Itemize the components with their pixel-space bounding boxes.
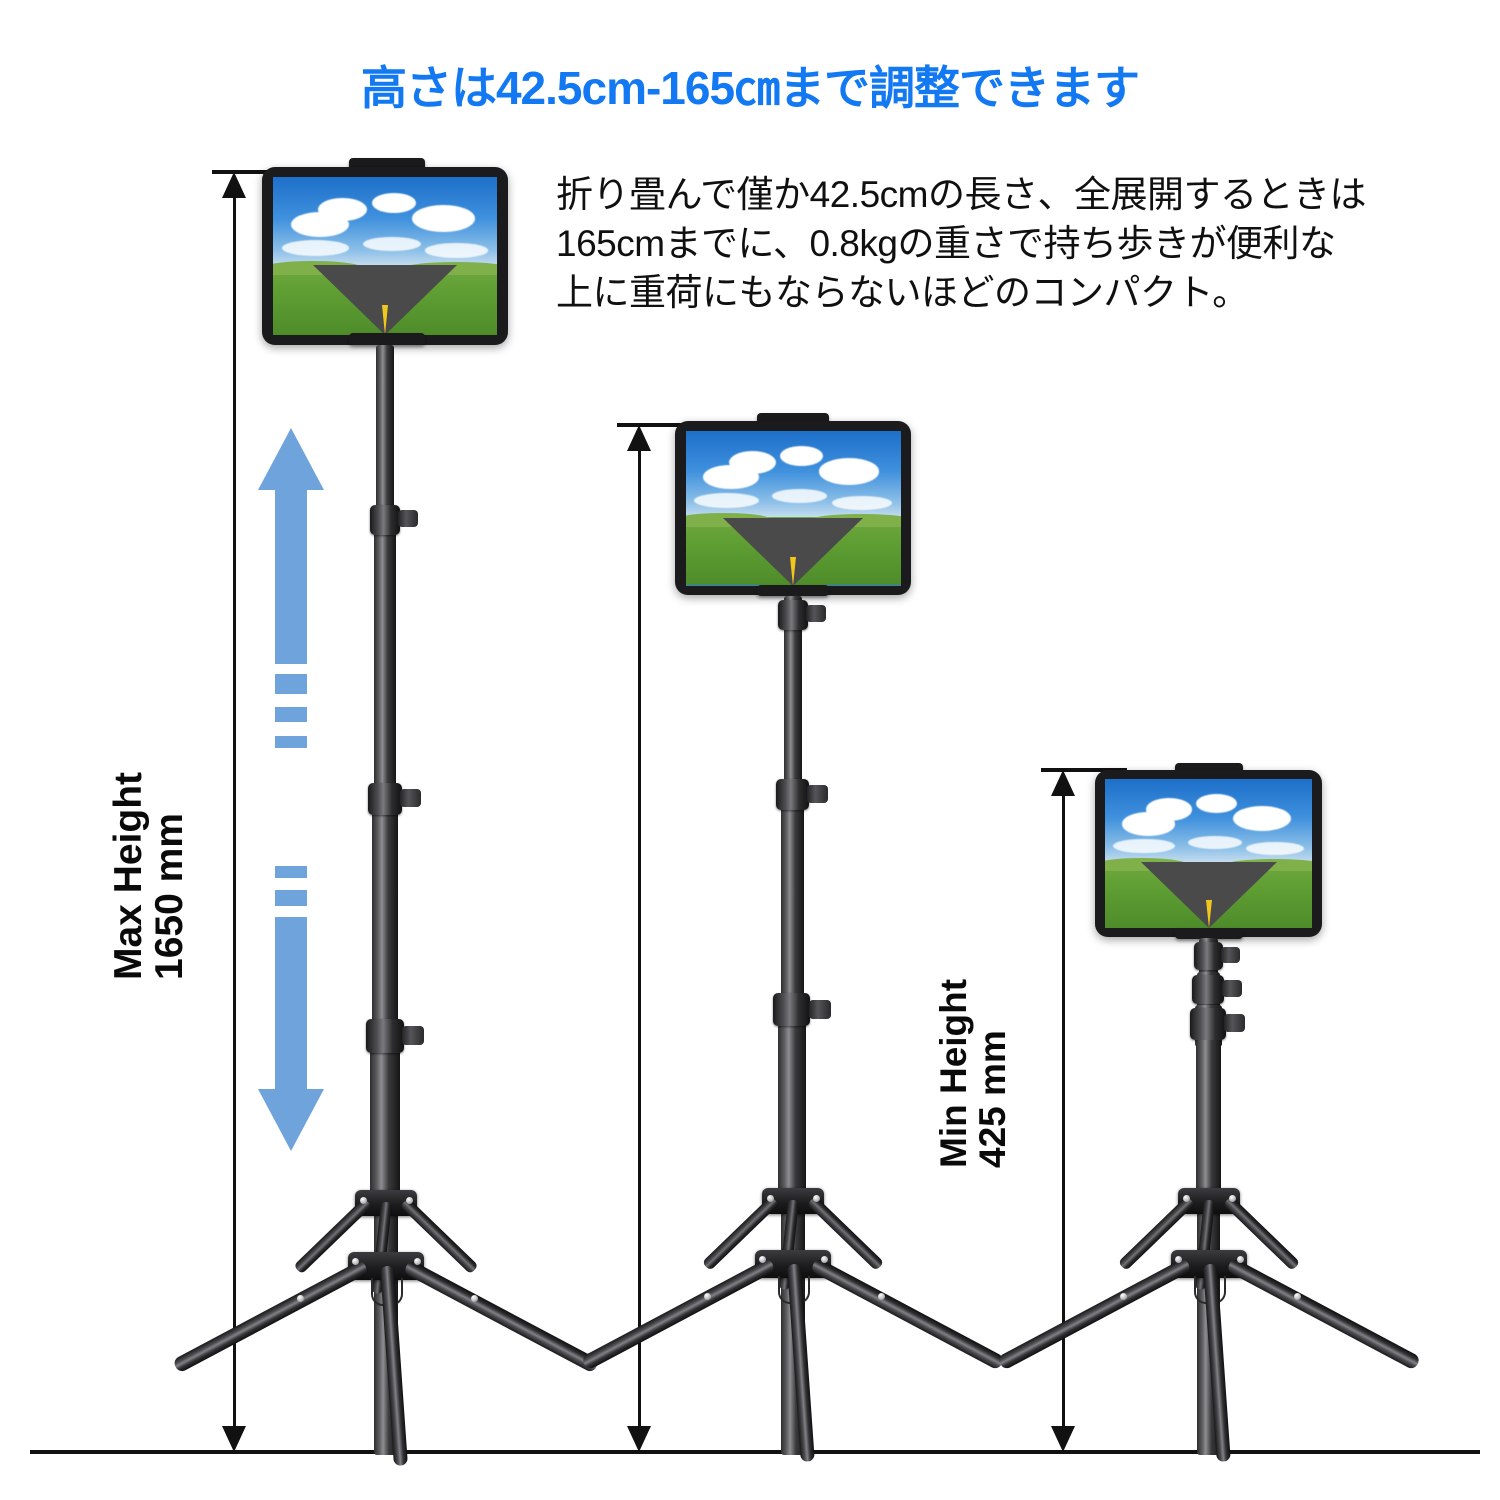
pole-section-4 [1196,1040,1221,1200]
max-height-caption: Max Height 1650 mm [108,772,191,980]
max-height-label: Max Height [107,772,150,980]
ground-baseline [30,1450,1480,1454]
leg-joint-rivet [1120,1293,1127,1300]
lock-collar[interactable] [370,505,400,535]
max-dimension-line [233,196,236,1428]
min-height-label: Min Height [933,979,974,1168]
leg-joint-rivet [1294,1293,1301,1300]
min-height-value: 425 mm [973,979,1012,1168]
hub-rivet [1237,1256,1244,1263]
lock-collar[interactable] [1194,942,1223,970]
pole-section-3 [778,1000,806,1200]
tripod-leg-left[interactable] [172,1259,369,1373]
hub-rivet [1229,1195,1236,1202]
hub-rivet [759,1256,766,1263]
dimension-arrow-down-icon [627,1426,651,1452]
double-arrow-down-head [258,1089,324,1151]
lock-collar[interactable] [368,783,402,815]
tripod-leg-left[interactable] [997,1257,1192,1370]
double-arrow-up-shaft [275,490,307,664]
tablet-bottom-clamp[interactable] [757,585,829,596]
description-paragraph: 折り畳んで僅か42.5cmの長さ、全展開するときは 165cmまでに、0.8kg… [556,170,1456,318]
hub-rivet [1175,1256,1182,1263]
leg-joint-rivet [297,1295,304,1302]
screen-lane-marking [790,557,796,586]
double-arrow-dash [275,866,307,878]
description-line-3: 上に重荷にもならないほどのコンパクト。 [556,268,1456,317]
lock-knob[interactable] [402,1026,424,1045]
double-arrow-up-head [258,428,324,490]
screen-cloud [282,240,349,256]
dimension-arrow-down-icon [1051,1426,1075,1452]
screen-cloud [729,451,776,474]
screen-cloud [1188,836,1242,849]
screen-lane-marking [1206,900,1212,928]
dimension-arrow-down-icon [222,1426,246,1452]
hub-rivet [767,1195,774,1202]
hub-rivet [813,1195,820,1202]
hub-rivet [1183,1195,1190,1202]
double-arrow-dash [275,707,307,722]
tripod-leg-right[interactable] [810,1257,1005,1370]
lock-knob[interactable] [1222,980,1242,997]
pole-section-2 [781,786,804,1011]
tablet-device [675,421,911,595]
adjust-height-double-arrow-icon [258,428,324,1151]
mid-dimension-line [638,449,641,1428]
lock-knob[interactable] [1224,1014,1245,1032]
dimension-arrow-up-icon [627,425,651,451]
tablet-device [1095,770,1322,937]
screen-cloud [318,198,367,222]
lock-collar[interactable] [1192,975,1224,1004]
lock-knob[interactable] [1221,947,1240,963]
screen-cloud [1246,842,1304,855]
double-arrow-dash [275,890,307,906]
lock-knob[interactable] [806,605,826,622]
double-arrow-down-shaft [275,939,307,1089]
screen-cloud [832,496,892,510]
lock-collar[interactable] [773,993,810,1026]
double-arrow-dash [275,736,307,748]
tablet-screen [1105,779,1312,928]
tripod-leg-right[interactable] [403,1259,600,1373]
lock-knob[interactable] [807,785,828,803]
screen-cloud [425,243,488,257]
tablet-screen [686,431,901,586]
screen-cloud [694,493,759,509]
screen-lane-marking [382,305,388,335]
lock-collar[interactable] [776,779,809,810]
tablet-device [262,167,508,345]
tablet-screen [273,177,497,335]
leg-joint-rivet [471,1295,478,1302]
screen-cloud [412,205,475,232]
page-title: 高さは42.5cm-165㎝まで調整できます [0,52,1500,118]
hub-rivet [406,1197,413,1204]
description-line-2: 165cmまでに、0.8kgの重さで持ち歩きが便利な [556,219,1456,268]
screen-cloud [819,458,879,484]
leg-joint-rivet [704,1293,711,1300]
screen-cloud [1233,806,1291,831]
double-arrow-dash [275,674,307,694]
lock-collar[interactable] [1190,1008,1226,1040]
dimension-arrow-up-icon [222,172,246,198]
pole-section-2 [374,512,396,802]
hub-rivet [352,1258,359,1265]
lock-knob[interactable] [809,1000,831,1019]
pole-section-3 [372,790,398,1040]
screen-cloud [780,446,823,466]
double-arrow-gap [258,748,324,866]
hub-rivet [414,1258,421,1265]
lock-collar[interactable] [366,1019,404,1053]
leg-joint-rivet [878,1293,885,1300]
hub-rivet [821,1256,828,1263]
lock-knob[interactable] [398,510,418,527]
tablet-bottom-clamp[interactable] [349,333,425,345]
pole-section-4 [370,1028,400,1203]
lock-collar[interactable] [778,600,808,630]
description-line-1: 折り畳んで僅か42.5cmの長さ、全展開するときは [556,170,1456,219]
hub-rivet [360,1197,367,1204]
dimension-arrow-up-icon [1051,770,1075,796]
pole-section-1 [376,345,394,525]
lock-knob[interactable] [400,789,421,807]
min-height-caption: Min Height 425 mm [934,979,1012,1168]
tripod-leg-right[interactable] [1226,1257,1421,1370]
tripod-leg-left[interactable] [581,1257,776,1370]
double-arrow-dash [275,917,307,939]
screen-cloud [1146,798,1192,820]
max-height-value: 1650 mm [149,772,190,980]
